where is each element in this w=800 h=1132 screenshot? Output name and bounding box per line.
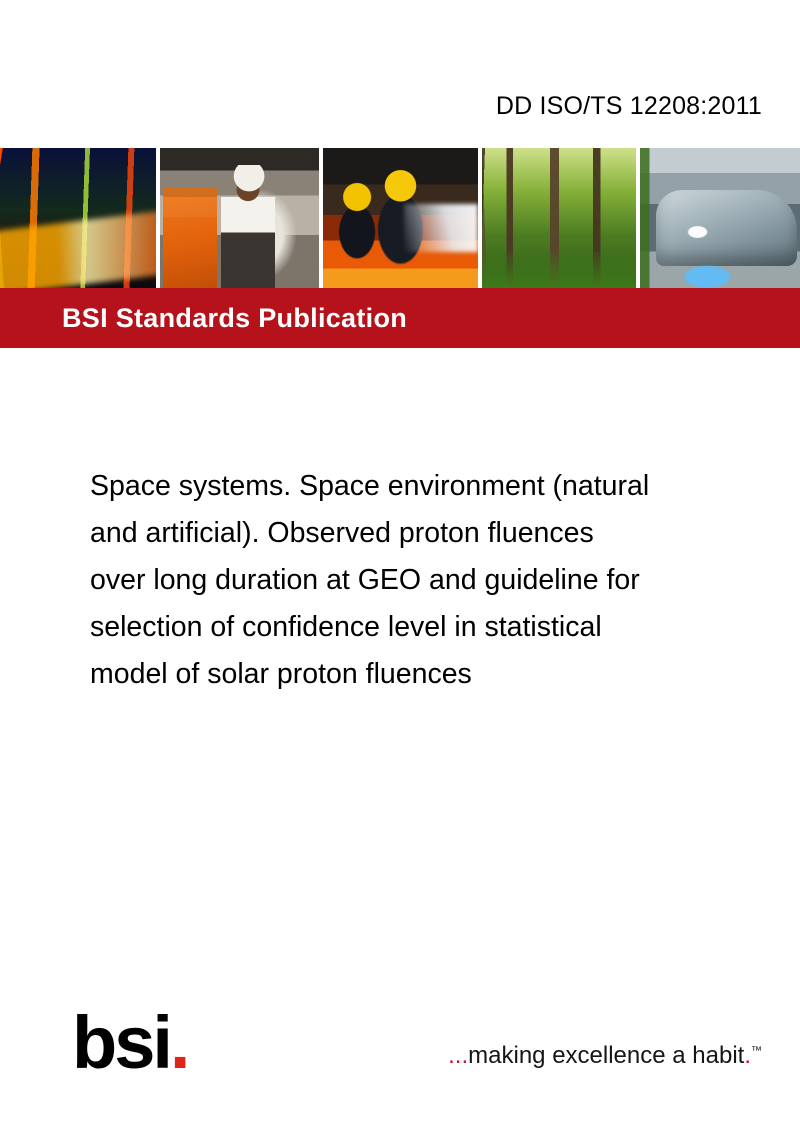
- tagline-period: .: [744, 1042, 751, 1069]
- bsi-logo: bsi.: [72, 1006, 187, 1080]
- title-line: Space systems. Space environment (natura…: [90, 463, 760, 510]
- photo-panel-car-assembly-line: [640, 148, 800, 288]
- title-line: over long duration at GEO and guideline …: [90, 557, 760, 604]
- bsi-standards-publication-banner: BSI Standards Publication: [0, 288, 800, 348]
- trademark-icon: ™: [751, 1045, 762, 1057]
- photo-strip: [0, 148, 800, 288]
- bsi-standards-cover-page: { "document": { "standard_number": "DD I…: [0, 0, 800, 1132]
- tagline-text: making excellence a habit: [468, 1042, 744, 1069]
- photo-panel-warehouse-worker: [160, 148, 319, 288]
- title-line: model of solar proton fluences: [90, 651, 760, 698]
- tagline-leading-ellipsis: ...: [448, 1042, 468, 1069]
- bsi-tagline: ...making excellence a habit.™: [448, 1042, 762, 1070]
- bsi-logo-dot: .: [170, 1001, 188, 1084]
- title-line: selection of confidence level in statist…: [90, 604, 760, 651]
- page-title: Space systems. Space environment (natura…: [90, 463, 760, 698]
- photo-panel-firefighters: [323, 148, 477, 288]
- photo-panel-night-traffic-light-trails: [0, 148, 156, 288]
- bsi-logo-text: bsi: [72, 1001, 170, 1084]
- standard-number: DD ISO/TS 12208:2011: [496, 92, 762, 121]
- banner-label: BSI Standards Publication: [62, 303, 407, 334]
- title-line: and artificial). Observed proton fluence…: [90, 510, 760, 557]
- photo-panel-forest: [482, 148, 636, 288]
